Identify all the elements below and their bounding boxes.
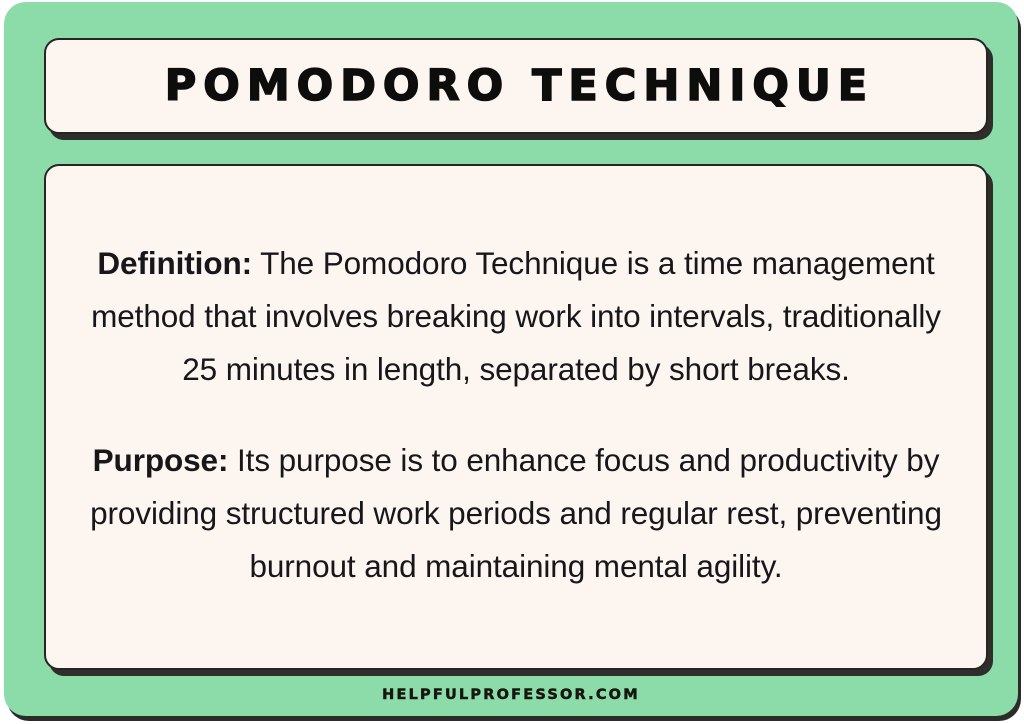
title-card: POMODORO TECHNIQUE — [44, 38, 988, 134]
definition-label: Definition: — [97, 245, 252, 281]
page-title: POMODORO TECHNIQUE — [158, 65, 874, 108]
content-card: Definition: The Pomodoro Technique is a … — [44, 164, 988, 670]
purpose-paragraph: Purpose: Its purpose is to enhance focus… — [81, 434, 951, 593]
poster-root: POMODORO TECHNIQUE Definition: The Pomod… — [0, 0, 1024, 724]
green-background-panel: POMODORO TECHNIQUE Definition: The Pomod… — [4, 2, 1018, 716]
footer: HELPFULPROFESSOR.COM — [4, 686, 1018, 704]
definition-paragraph: Definition: The Pomodoro Technique is a … — [81, 237, 951, 396]
purpose-label: Purpose: — [93, 442, 229, 478]
footer-attribution: HELPFULPROFESSOR.COM — [382, 687, 640, 703]
